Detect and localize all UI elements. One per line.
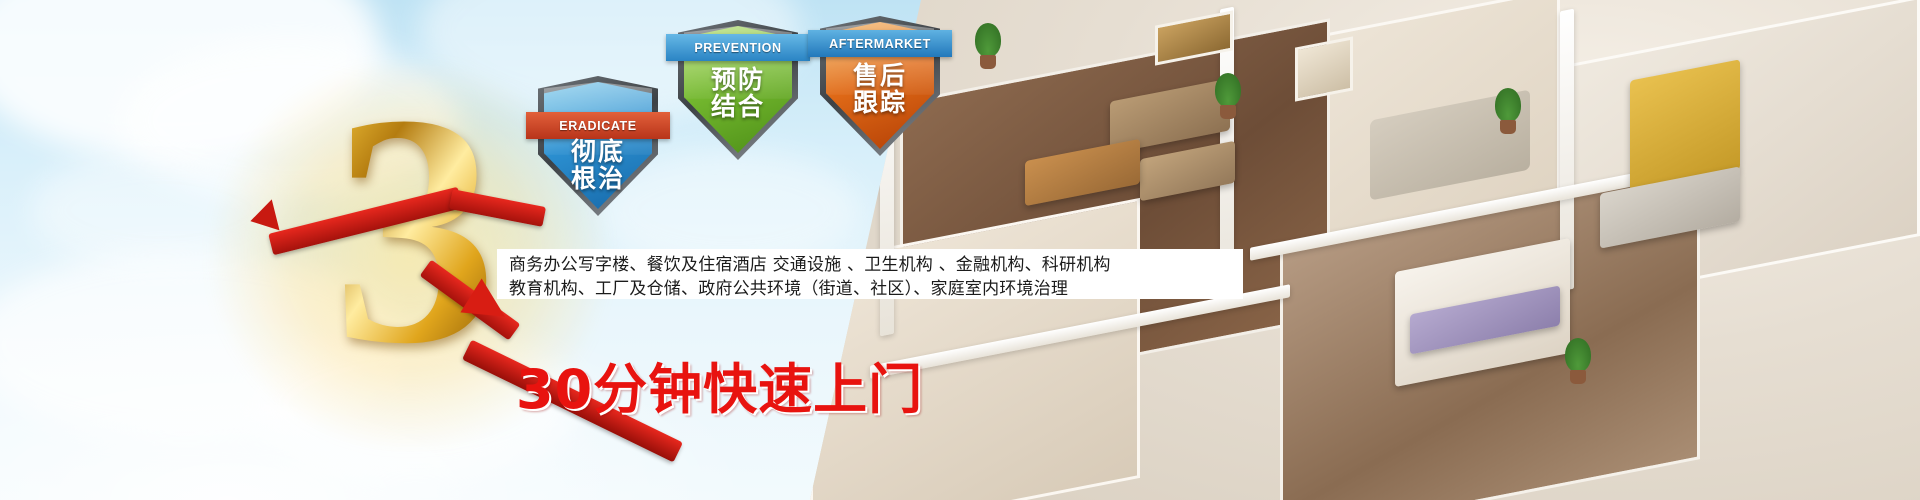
shield-badge-prevention: PREVENTION 预防 结合 — [678, 20, 798, 160]
shield-band-label: ERADICATE — [526, 112, 670, 139]
shield-badge-aftermarket: AFTERMARKET 售后 跟踪 — [820, 16, 940, 156]
shield-chinese-label: 售后 跟踪 — [820, 62, 940, 116]
service-scope-line-2: 教育机构、工厂及仓储、政府公共环境（街道、社区）、家庭室内环境治理 — [509, 277, 1231, 301]
wall-picture — [1295, 36, 1353, 101]
service-scope-line-1: 商务办公写字楼、餐饮及住宿酒店 交通设施 、卫生机构 、金融机构、科研机构 — [509, 253, 1231, 277]
shield-cn-line1: 售后 — [820, 62, 940, 89]
shield-band-label: AFTERMARKET — [808, 30, 952, 57]
shield-chinese-label: 彻底 根治 — [538, 138, 658, 192]
shield-cn-line2: 跟踪 — [820, 89, 940, 116]
shield-cn-line1: 预防 — [678, 66, 798, 93]
headline-text: 30分钟快速上门 — [516, 345, 923, 424]
shield-chinese-label: 预防 结合 — [678, 66, 798, 120]
shield-band-label: PREVENTION — [666, 34, 810, 61]
service-scope-panel: 商务办公写字楼、餐饮及住宿酒店 交通设施 、卫生机构 、金融机构、科研机构 教育… — [497, 249, 1243, 299]
promo-banner: 3 ERADICATE 彻底 根治 PREVENTION 预防 结合 AFTE — [0, 0, 1920, 500]
shield-badge-eradicate: ERADICATE 彻底 根治 — [538, 76, 658, 216]
shield-cn-line2: 根治 — [538, 165, 658, 192]
shield-cn-line1: 彻底 — [538, 138, 658, 165]
shield-cn-line2: 结合 — [678, 93, 798, 120]
